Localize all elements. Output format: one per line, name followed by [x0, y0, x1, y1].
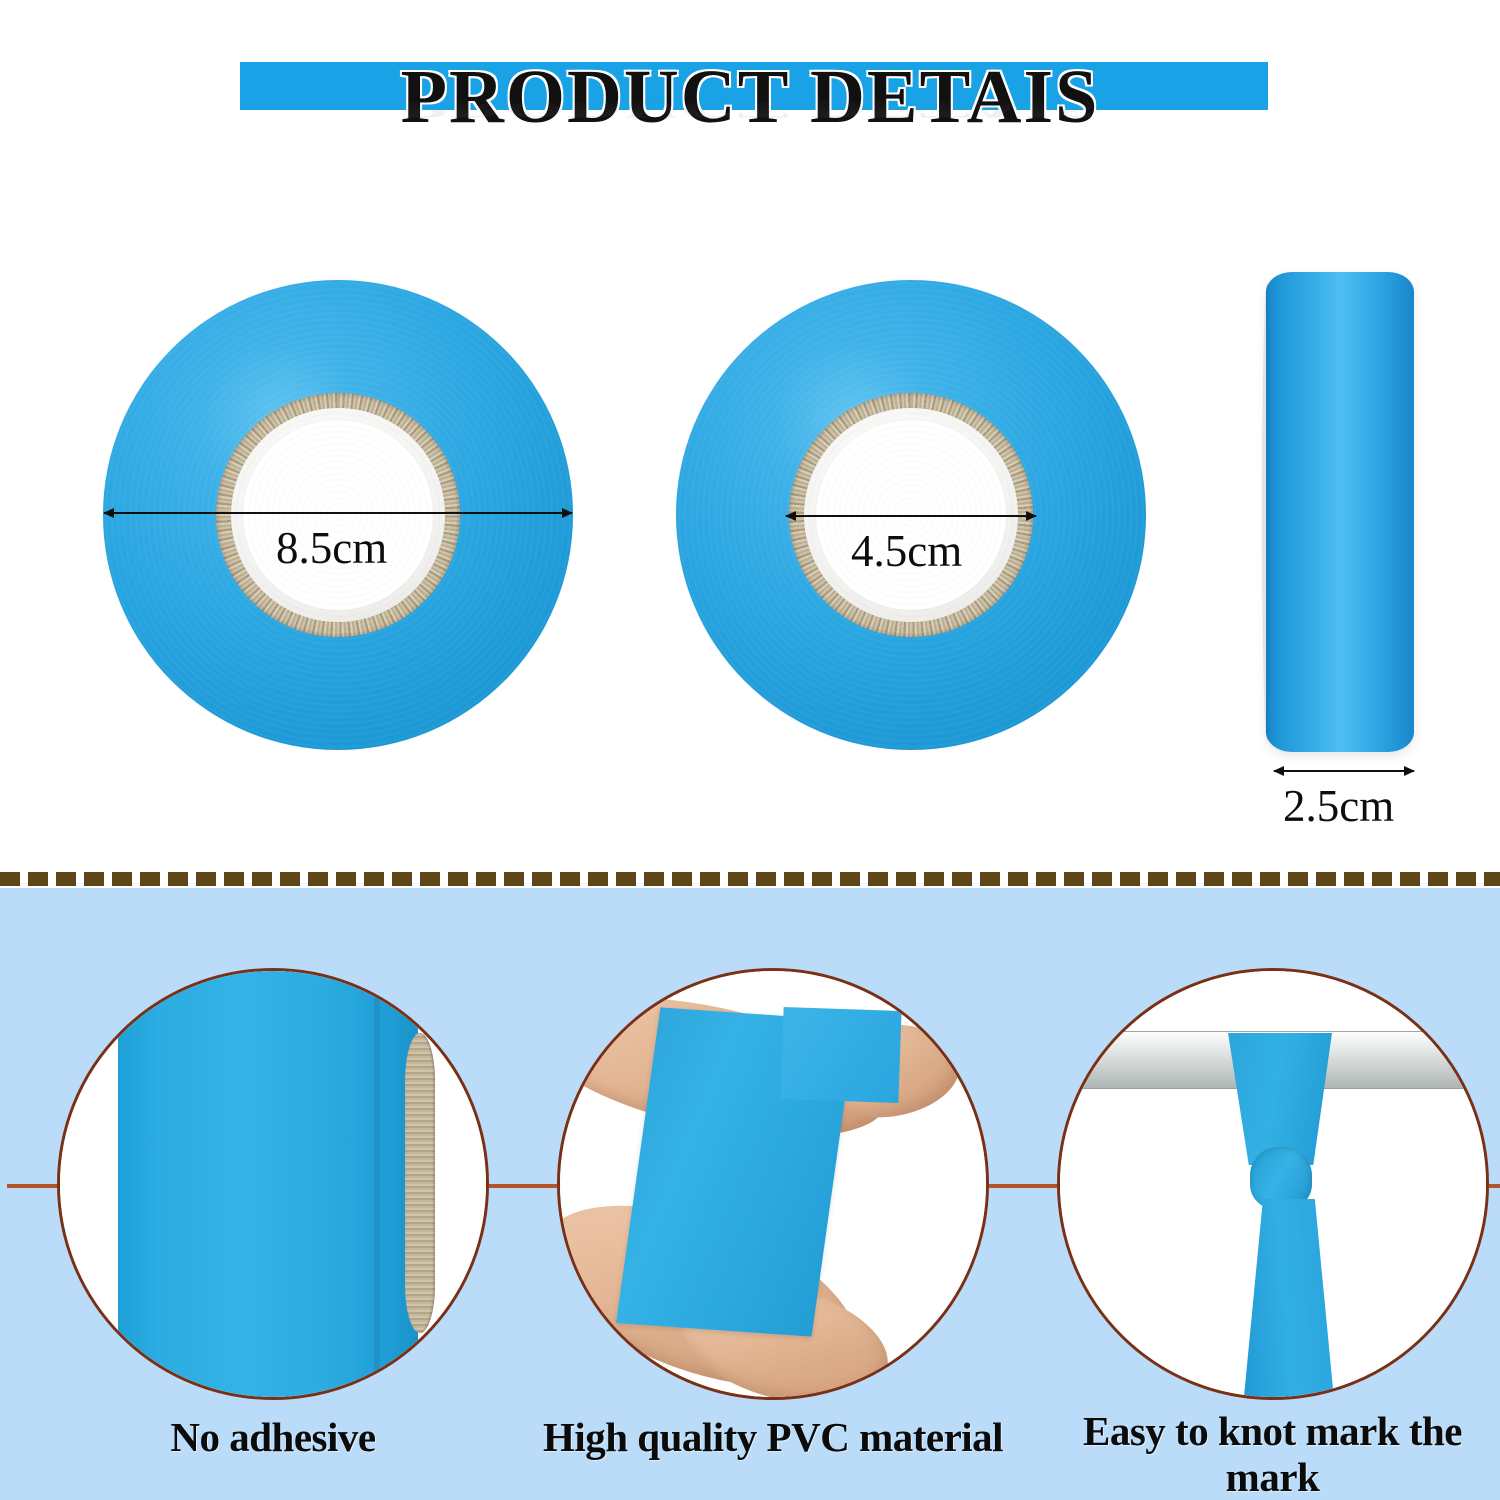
connector-line-1-2 — [489, 1184, 557, 1188]
connector-line-2-3 — [989, 1184, 1057, 1188]
inner-diameter-label: 4.5cm — [851, 525, 962, 577]
width-arrow — [1274, 770, 1414, 772]
feature-photo-pvc-material — [557, 968, 989, 1400]
outer-diameter-label: 8.5cm — [276, 522, 387, 574]
inner-diameter-arrow — [786, 515, 1036, 517]
tape-strip-flap — [780, 1007, 901, 1103]
tape-above-knot — [1228, 1033, 1332, 1165]
title-banner — [240, 62, 1268, 110]
tape-core-ring — [216, 393, 460, 637]
feature-photo-no-adhesive — [57, 968, 489, 1400]
arrow-head-right-icon — [1404, 766, 1415, 776]
feature-caption-2: High quality PVC material — [527, 1414, 1019, 1460]
tape-core-hole — [243, 420, 433, 610]
feature-caption-3-line1: Easy to knot mark the mark — [1045, 1408, 1500, 1500]
arrow-head-right-icon — [1026, 511, 1037, 521]
arrow-head-left-icon — [785, 511, 796, 521]
outer-diameter-arrow — [104, 512, 572, 514]
arrow-head-left-icon — [103, 508, 114, 518]
tape-roll-front-view-outer — [103, 280, 573, 750]
tape-core-edge — [405, 1033, 435, 1333]
arrow-head-left-icon — [1273, 766, 1284, 776]
tape-surface — [118, 968, 418, 1400]
connector-line-left — [7, 1184, 59, 1188]
feature-caption-3: Easy to knot mark the mark you want — [1045, 1408, 1500, 1500]
photo-tape-roll-edge-closeup — [60, 971, 486, 1397]
tape-roll-side-view — [1266, 272, 1414, 752]
tape-core-plastic-lip — [231, 408, 445, 622]
connector-line-right — [1489, 1184, 1500, 1188]
product-details-infographic: PRODUCT DETAIS PRODUCT DETAIS 8.5cm 4.5c… — [0, 0, 1500, 1500]
dimensions-section: PRODUCT DETAIS PRODUCT DETAIS 8.5cm 4.5c… — [0, 0, 1500, 868]
width-label: 2.5cm — [1283, 780, 1394, 832]
tape-below-knot — [1238, 1199, 1334, 1399]
feature-photo-easy-to-knot — [1057, 968, 1489, 1400]
features-section: No adhesive High quality PVC material — [0, 888, 1500, 1500]
arrow-head-right-icon — [562, 508, 573, 518]
photo-tape-knotted-on-bar — [1060, 971, 1486, 1397]
dashed-divider — [0, 872, 1500, 886]
photo-hand-holding-tape — [560, 971, 986, 1397]
feature-caption-1: No adhesive — [57, 1414, 489, 1460]
